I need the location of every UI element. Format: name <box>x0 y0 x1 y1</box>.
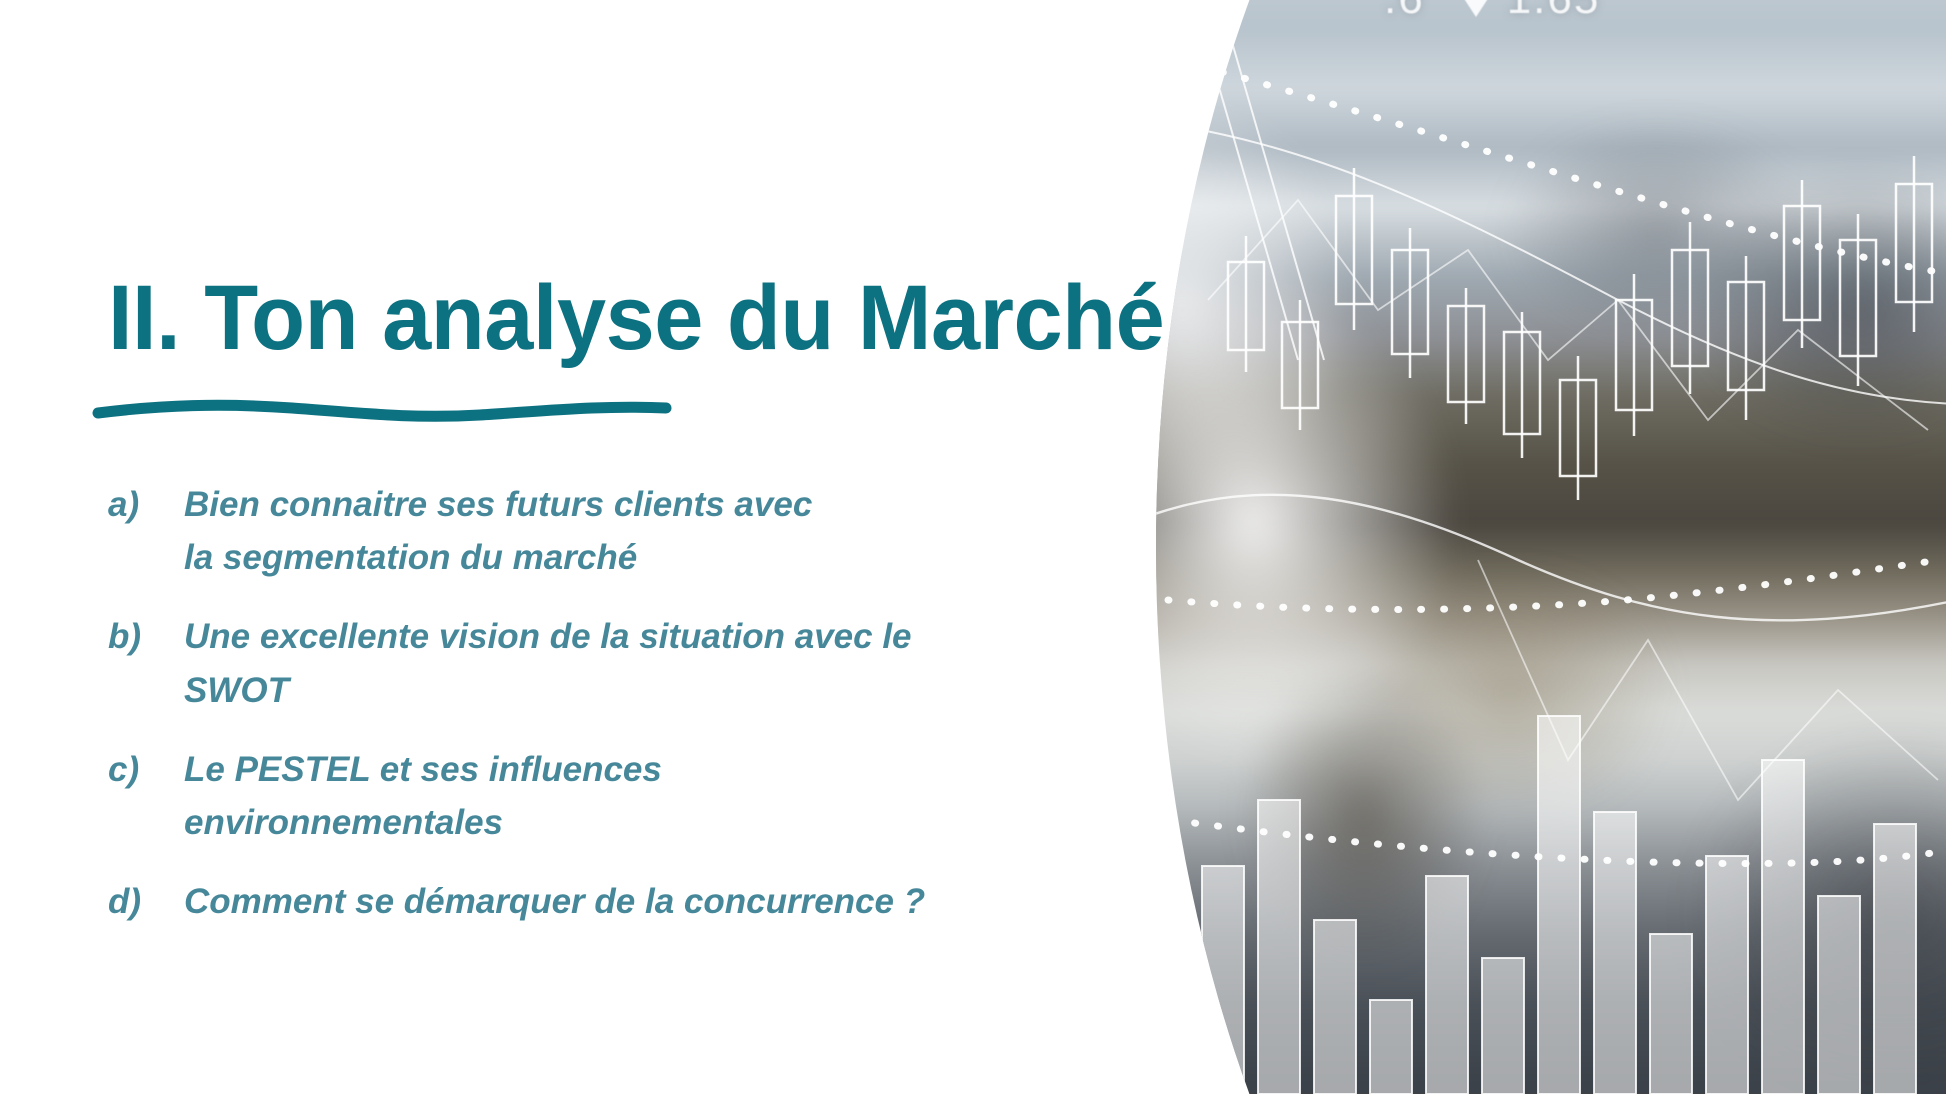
list-item: b) Une excellente vision de la situation… <box>108 610 988 716</box>
list-item-marker: c) <box>108 743 184 796</box>
list-item: d) Comment se démarquer de la concurrenc… <box>108 875 988 928</box>
list-item-marker: d) <box>108 875 184 928</box>
decorative-photo-panel: .61.65 <box>1148 0 1946 1094</box>
list-item-label: Une excellente vision de la situation av… <box>184 610 988 716</box>
slide-canvas: II. Ton analyse du Marché a) Bien connai… <box>0 0 1946 1094</box>
list-item: c) Le PESTEL et ses influences environne… <box>108 743 988 849</box>
photo-arc-clip: .61.65 <box>1148 0 1946 1094</box>
list-item-marker: a) <box>108 478 184 531</box>
page-title: II. Ton analyse du Marché <box>108 272 1164 364</box>
list-item-marker: b) <box>108 610 184 663</box>
title-underline-squiggle <box>92 388 672 434</box>
ticker-value: 1.65 <box>1507 0 1601 23</box>
stock-chart-overlay-graphic <box>1148 0 1946 1094</box>
list-item-label: Comment se démarquer de la concurrence ? <box>184 875 988 928</box>
bullet-list: a) Bien connaitre ses futurs clients ave… <box>108 478 988 928</box>
ticker-partial-value: .6 <box>1384 0 1425 23</box>
list-item-label: Le PESTEL et ses influences environnemen… <box>184 743 988 849</box>
list-item-label: Bien connaitre ses futurs clients avec l… <box>184 478 824 584</box>
triangle-down-icon <box>1459 0 1493 17</box>
slide-content: II. Ton analyse du Marché a) Bien connai… <box>0 0 1200 1094</box>
ticker-readout: .61.65 <box>1384 0 1600 24</box>
list-item: a) Bien connaitre ses futurs clients ave… <box>108 478 988 584</box>
